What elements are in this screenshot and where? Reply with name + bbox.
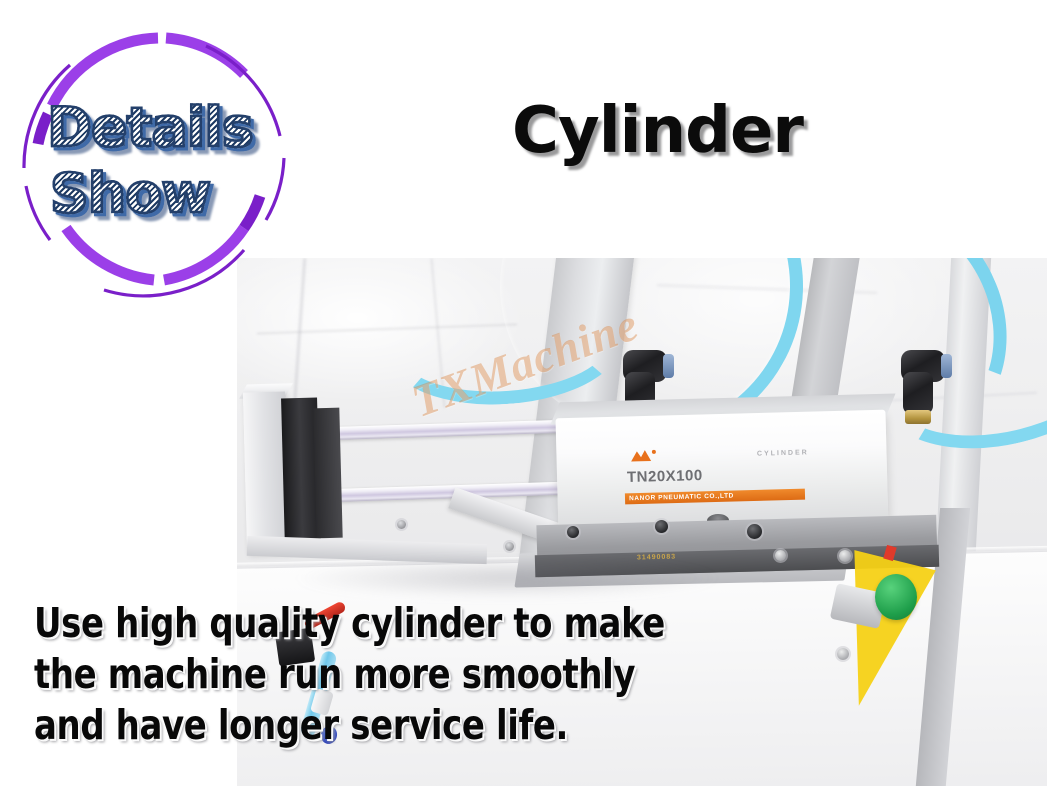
black-clamp-block-inner: [313, 408, 342, 539]
slide-root: CYLINDER TN20X100 NANOR PNEUMATIC CO.,LT…: [0, 0, 1047, 786]
bolt: [397, 520, 406, 529]
caption-line-3: and have longer service life.: [34, 700, 678, 751]
elbow-fitting-right: [897, 350, 967, 432]
bolt: [505, 542, 514, 551]
bolt: [747, 524, 762, 539]
caption-block: Use high quality cylinder to make the ma…: [34, 598, 678, 751]
cylinder-model-label: TN20X100: [627, 467, 703, 486]
cylinder-brand-logo: [629, 447, 669, 464]
caption-line-1: Use high quality cylinder to make: [34, 598, 678, 649]
bolt: [655, 520, 668, 533]
badge-text-group: Details Show: [8, 18, 308, 298]
bolt: [839, 550, 851, 562]
page-title: Cylinder: [512, 99, 803, 163]
badge-line-1: Details: [47, 100, 253, 156]
green-valve-cap: [875, 574, 917, 620]
cylinder-type-label: CYLINDER: [757, 449, 809, 457]
assembly-shadow: [297, 558, 717, 598]
details-show-badge: Details Show: [8, 18, 308, 298]
badge-line-2: Show: [50, 166, 210, 222]
caption-line-2: the machine run more smoothly: [34, 649, 678, 700]
bolt: [775, 550, 786, 561]
bolt: [567, 526, 579, 538]
